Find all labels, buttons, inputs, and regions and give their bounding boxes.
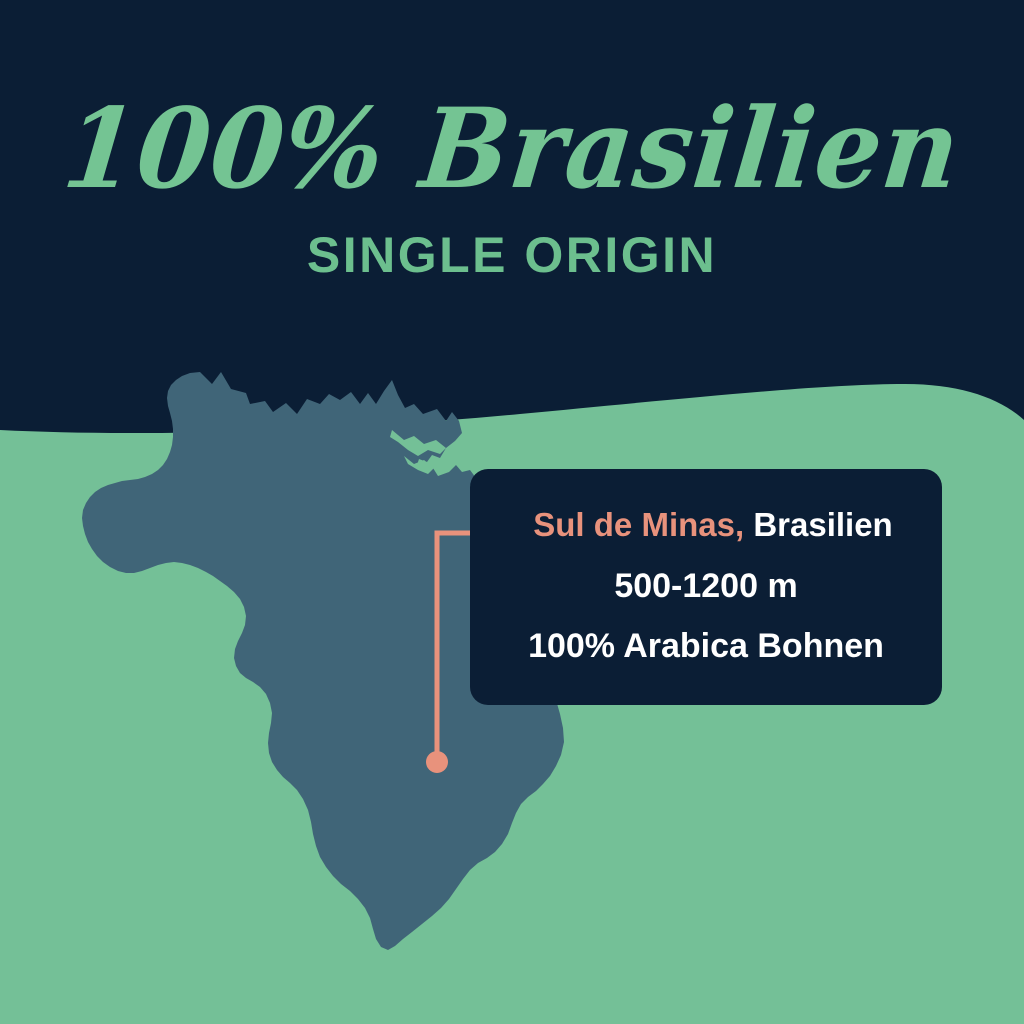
card-region-name: Sul de Minas, [533, 506, 744, 543]
origin-info-card: Sul de Minas, Brasilien 500-1200 m 100% … [470, 469, 942, 705]
card-altitude: 500-1200 m [496, 569, 916, 603]
map-marker-dot[interactable] [426, 751, 448, 773]
card-country-name: Brasilien [753, 506, 892, 543]
card-region-line: Sul de Minas, Brasilien [503, 508, 923, 541]
coffee-origin-infographic: 100% Brasilien SINGLE ORIGIN Sul de Mina… [0, 0, 1024, 1024]
card-bean-type: 100% Arabica Bohnen [496, 629, 916, 663]
